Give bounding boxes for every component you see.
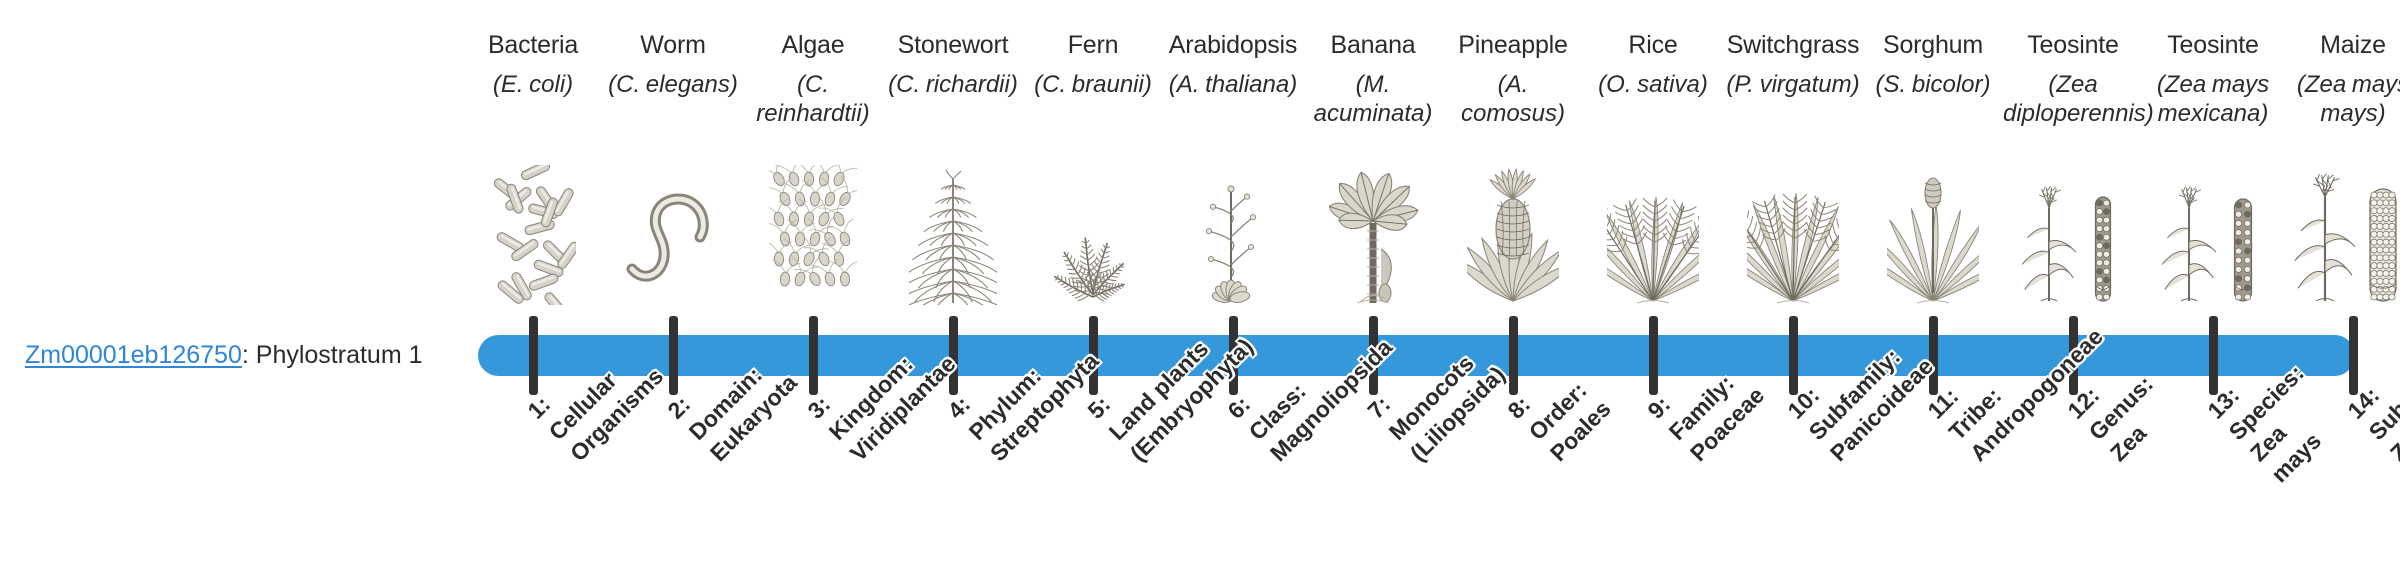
- teosinte-mexicana-illustration: [2143, 165, 2283, 305]
- species-column-fern-5: Fern(C. braunii): [1023, 30, 1163, 99]
- teosinte-diploperennis-illustration: [2003, 165, 2143, 305]
- species-column-rice-9: Rice(O. sativa): [1583, 30, 1723, 99]
- species-scientific-name: (P. virgatum): [1723, 70, 1863, 99]
- phylostratum-tick-7[interactable]: [1369, 316, 1378, 395]
- species-column-maize-14: Maize(Zea mays mays): [2283, 30, 2400, 128]
- phylostratum-tick-2[interactable]: [669, 316, 678, 395]
- gene-phylostratum-value: Phylostratum 1: [256, 341, 423, 369]
- species-common-name: Pineapple: [1443, 30, 1583, 60]
- species-scientific-name: (Zea mays mays): [2283, 70, 2400, 128]
- species-common-name: Fern: [1023, 30, 1163, 60]
- species-column-switchgrass-10: Switchgrass(P. virgatum): [1723, 30, 1863, 99]
- species-scientific-name: (A. thaliana): [1163, 70, 1303, 99]
- species-common-name: Arabidopsis: [1163, 30, 1303, 60]
- species-common-name: Banana: [1303, 30, 1443, 60]
- phylostratum-tick-6[interactable]: [1229, 316, 1238, 395]
- arabidopsis-illustration: [1163, 165, 1303, 305]
- phylostratum-tick-3[interactable]: [809, 316, 818, 395]
- species-scientific-name: (C. elegans): [603, 70, 743, 99]
- rice-illustration: [1583, 165, 1723, 305]
- species-column-arabidopsis-6: Arabidopsis(A. thaliana): [1163, 30, 1303, 99]
- species-common-name: Teosinte: [2143, 30, 2283, 60]
- species-column-algae-3: Algae(C. reinhardtii): [743, 30, 883, 128]
- species-scientific-name: (S. bicolor): [1863, 70, 2003, 99]
- species-scientific-name: (Zea mays mexicana): [2143, 70, 2283, 128]
- species-column-worm-2: Worm(C. elegans): [603, 30, 743, 99]
- gene-phylostratum-text: : Phylostratum 1: [242, 341, 423, 369]
- maize-illustration: [2283, 165, 2400, 305]
- phylostratum-tick-8[interactable]: [1509, 316, 1518, 395]
- species-common-name: Stonewort: [883, 30, 1023, 60]
- switchgrass-illustration: [1723, 165, 1863, 305]
- species-column-pineapple-8: Pineapple(A. comosus): [1443, 30, 1583, 128]
- phylostratum-tick-4[interactable]: [949, 316, 958, 395]
- fern-illustration: [1023, 165, 1163, 305]
- banana-illustration: [1303, 165, 1443, 305]
- species-scientific-name: (C. richardii): [883, 70, 1023, 99]
- phylostratum-tick-11[interactable]: [1929, 316, 1938, 395]
- species-scientific-name: (Zea diploperennis): [2003, 70, 2143, 128]
- phylostratum-tick-12[interactable]: [2069, 316, 2078, 395]
- species-scientific-name: (O. sativa): [1583, 70, 1723, 99]
- phylostratum-tick-1[interactable]: [529, 316, 538, 395]
- species-scientific-name: (C. braunii): [1023, 70, 1163, 99]
- bacteria-illustration: [463, 165, 603, 305]
- species-common-name: Bacteria: [463, 30, 603, 60]
- phylostratum-tick-5[interactable]: [1089, 316, 1098, 395]
- species-column-stonewort-4: Stonewort(C. richardii): [883, 30, 1023, 99]
- species-column-banana-7: Banana(M. acuminata): [1303, 30, 1443, 128]
- species-scientific-name: (E. coli): [463, 70, 603, 99]
- phylostratum-tick-14[interactable]: [2349, 316, 2358, 395]
- species-common-name: Teosinte: [2003, 30, 2143, 60]
- stonewort-illustration: [883, 165, 1023, 305]
- worm-illustration: [603, 165, 743, 305]
- species-column-bacteria-1: Bacteria(E. coli): [463, 30, 603, 99]
- gene-label-separator: :: [242, 341, 256, 369]
- species-column-teosinte-13: Teosinte(Zea mays mexicana): [2143, 30, 2283, 128]
- sorghum-illustration: [1863, 165, 2003, 305]
- species-scientific-name: (M. acuminata): [1303, 70, 1443, 128]
- gene-track-label: Zm00001eb126750: Phylostratum 1: [25, 340, 423, 370]
- species-scientific-name: (A. comosus): [1443, 70, 1583, 128]
- species-common-name: Rice: [1583, 30, 1723, 60]
- gene-id-link[interactable]: Zm00001eb126750: [25, 341, 242, 369]
- species-common-name: Maize: [2283, 30, 2400, 60]
- phylostratum-tick-10[interactable]: [1789, 316, 1798, 395]
- species-common-name: Worm: [603, 30, 743, 60]
- species-common-name: Switchgrass: [1723, 30, 1863, 60]
- algae-illustration: [743, 165, 883, 305]
- species-scientific-name: (C. reinhardtii): [743, 70, 883, 128]
- species-common-name: Algae: [743, 30, 883, 60]
- species-common-name: Sorghum: [1863, 30, 2003, 60]
- species-column-sorghum-11: Sorghum(S. bicolor): [1863, 30, 2003, 99]
- phylostratum-tick-9[interactable]: [1649, 316, 1658, 395]
- phylostratum-figure: Bacteria(E. coli)Worm(C. elegans)Algae(C…: [0, 0, 2400, 580]
- phylostratum-tick-13[interactable]: [2209, 316, 2218, 395]
- pineapple-illustration: [1443, 165, 1583, 305]
- species-column-teosinte-12: Teosinte(Zea diploperennis): [2003, 30, 2143, 128]
